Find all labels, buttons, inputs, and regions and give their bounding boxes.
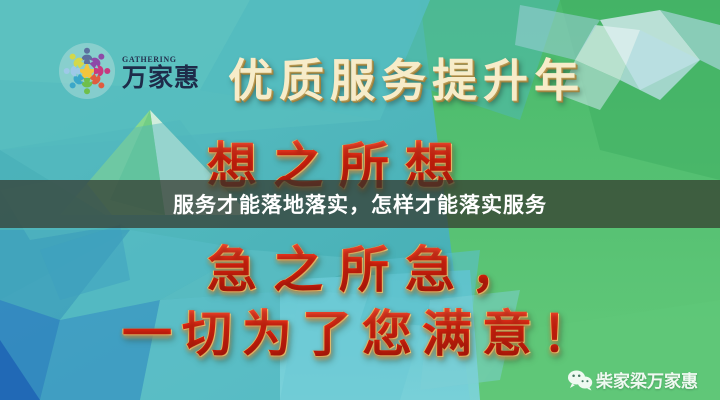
slogan-line-3: 一切为了您满意！: [122, 294, 602, 366]
caption-band: 服务才能落地落实，怎样才能落实服务: [0, 180, 720, 228]
poster-headline: 优质服务提升年: [228, 44, 585, 109]
wechat-icon: [567, 369, 593, 391]
brand-logo-text: Gathering 万家惠: [122, 52, 200, 90]
watermark-text: 柴家梁万家惠: [596, 367, 698, 392]
slogan-line-2: 急之所急，: [207, 230, 537, 302]
poster-image: Gathering 万家惠 优质服务提升年 想之所想 急之所急， 一切为了您满意…: [0, 0, 720, 400]
gathering-people-circle-logo: [58, 42, 116, 100]
watermark: 柴家梁万家惠: [567, 367, 698, 392]
brand-name-chinese: 万家惠: [122, 65, 200, 90]
brand-logo: Gathering 万家惠: [58, 40, 208, 102]
caption-text: 服务才能落地落实，怎样才能落实服务: [173, 189, 547, 219]
